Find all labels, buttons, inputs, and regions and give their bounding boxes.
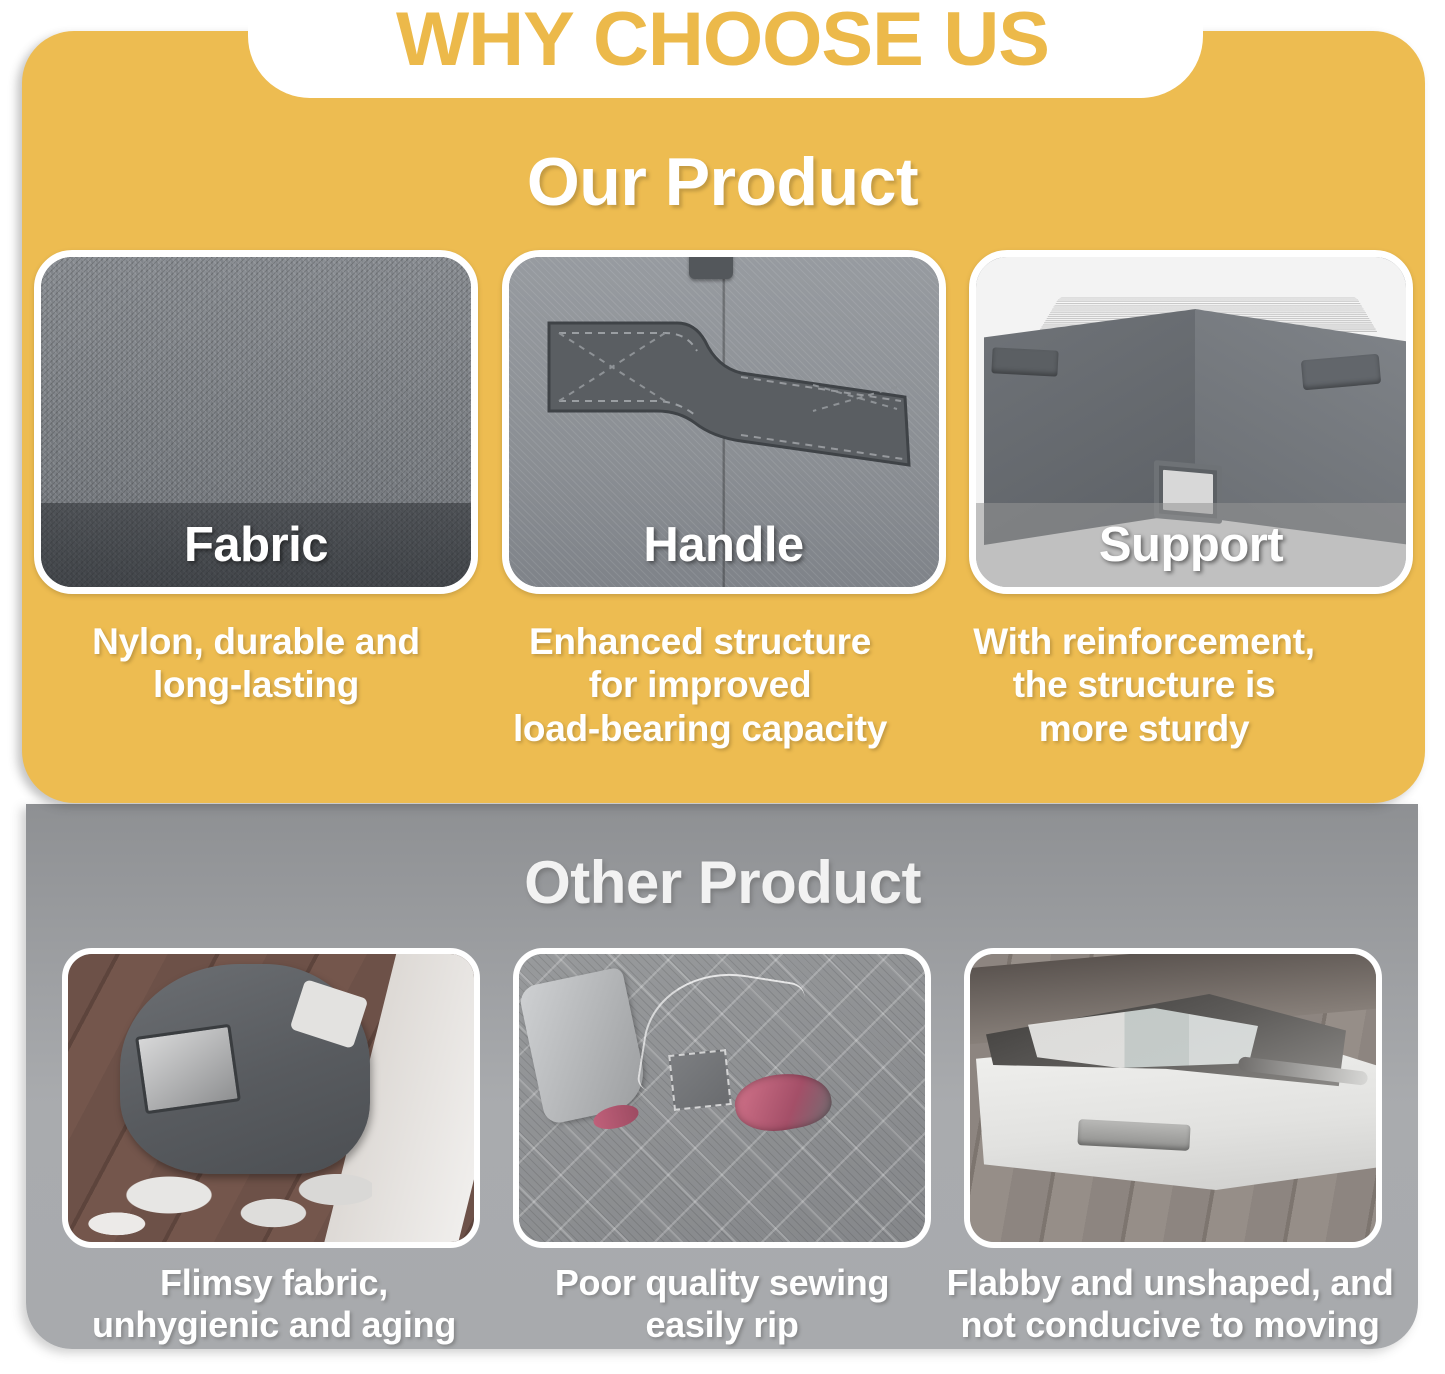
caption-line: unhygienic and aging bbox=[50, 1304, 498, 1346]
caption-line: not conducive to moving bbox=[946, 1304, 1394, 1346]
our-product-caption-row: Nylon, durable and long-lasting Enhanced… bbox=[22, 620, 1425, 780]
torn-bag-photo-image bbox=[68, 954, 474, 1242]
caption-line: long-lasting bbox=[34, 663, 478, 706]
caption-line: With reinforcement, bbox=[922, 620, 1366, 663]
caption-line: Poor quality sewing bbox=[498, 1262, 946, 1304]
other-product-caption-row: Flimsy fabric, unhygienic and aging Poor… bbox=[26, 1262, 1418, 1372]
caption-line: load-bearing capacity bbox=[478, 707, 922, 750]
quilted-fabric-photo-image bbox=[519, 954, 925, 1242]
product-card-label: Handle bbox=[509, 503, 939, 587]
strap-anchor-patch bbox=[668, 1049, 732, 1111]
box-handle-left bbox=[991, 347, 1058, 376]
caption-fabric: Nylon, durable and long-lasting bbox=[34, 620, 478, 780]
detached-strap bbox=[518, 967, 651, 1126]
product-card-support[interactable]: Support bbox=[969, 250, 1413, 594]
caption-handle: Enhanced structure for improved load-bea… bbox=[478, 620, 922, 780]
bag-tag bbox=[290, 979, 369, 1049]
caption-line: for improved bbox=[478, 663, 922, 706]
our-product-card-row: Fabric Handle bbox=[22, 250, 1425, 598]
caption-line: the structure is bbox=[922, 663, 1366, 706]
caption-flimsy-fabric: Flimsy fabric, unhygienic and aging bbox=[50, 1262, 498, 1372]
other-card-torn-bag[interactable] bbox=[62, 948, 480, 1248]
caption-flabby-unshaped: Flabby and unshaped, and not conducive t… bbox=[946, 1262, 1394, 1372]
caption-line: Enhanced structure bbox=[478, 620, 922, 663]
our-product-heading: Our Product bbox=[0, 143, 1445, 221]
other-product-heading: Other Product bbox=[0, 848, 1445, 917]
product-card-label: Fabric bbox=[41, 503, 471, 587]
product-card-label: Support bbox=[976, 503, 1406, 587]
other-product-card-row bbox=[26, 948, 1418, 1248]
product-card-handle[interactable]: Handle bbox=[502, 250, 946, 594]
bag-clear-window bbox=[135, 1024, 241, 1115]
handle-strap-icon bbox=[545, 315, 921, 503]
top-tab bbox=[689, 250, 733, 279]
caption-line: easily rip bbox=[498, 1304, 946, 1346]
caption-line: Flabby and unshaped, and bbox=[946, 1262, 1394, 1304]
caption-line: more sturdy bbox=[922, 707, 1366, 750]
other-card-saggy-bag[interactable] bbox=[964, 948, 1382, 1248]
saggy-bag-photo-image bbox=[970, 954, 1376, 1242]
product-card-fabric[interactable]: Fabric bbox=[34, 250, 478, 594]
collapsed-bag bbox=[120, 964, 370, 1174]
peeling-debris bbox=[82, 1150, 372, 1240]
caption-support: With reinforcement, the structure is mor… bbox=[922, 620, 1366, 780]
caption-poor-sewing: Poor quality sewing easily rip bbox=[498, 1262, 946, 1372]
page-title: WHY CHOOSE US bbox=[0, 0, 1445, 83]
caption-line: Nylon, durable and bbox=[34, 620, 478, 663]
caption-line: Flimsy fabric, bbox=[50, 1262, 498, 1304]
other-card-ripped-seam[interactable] bbox=[513, 948, 931, 1248]
